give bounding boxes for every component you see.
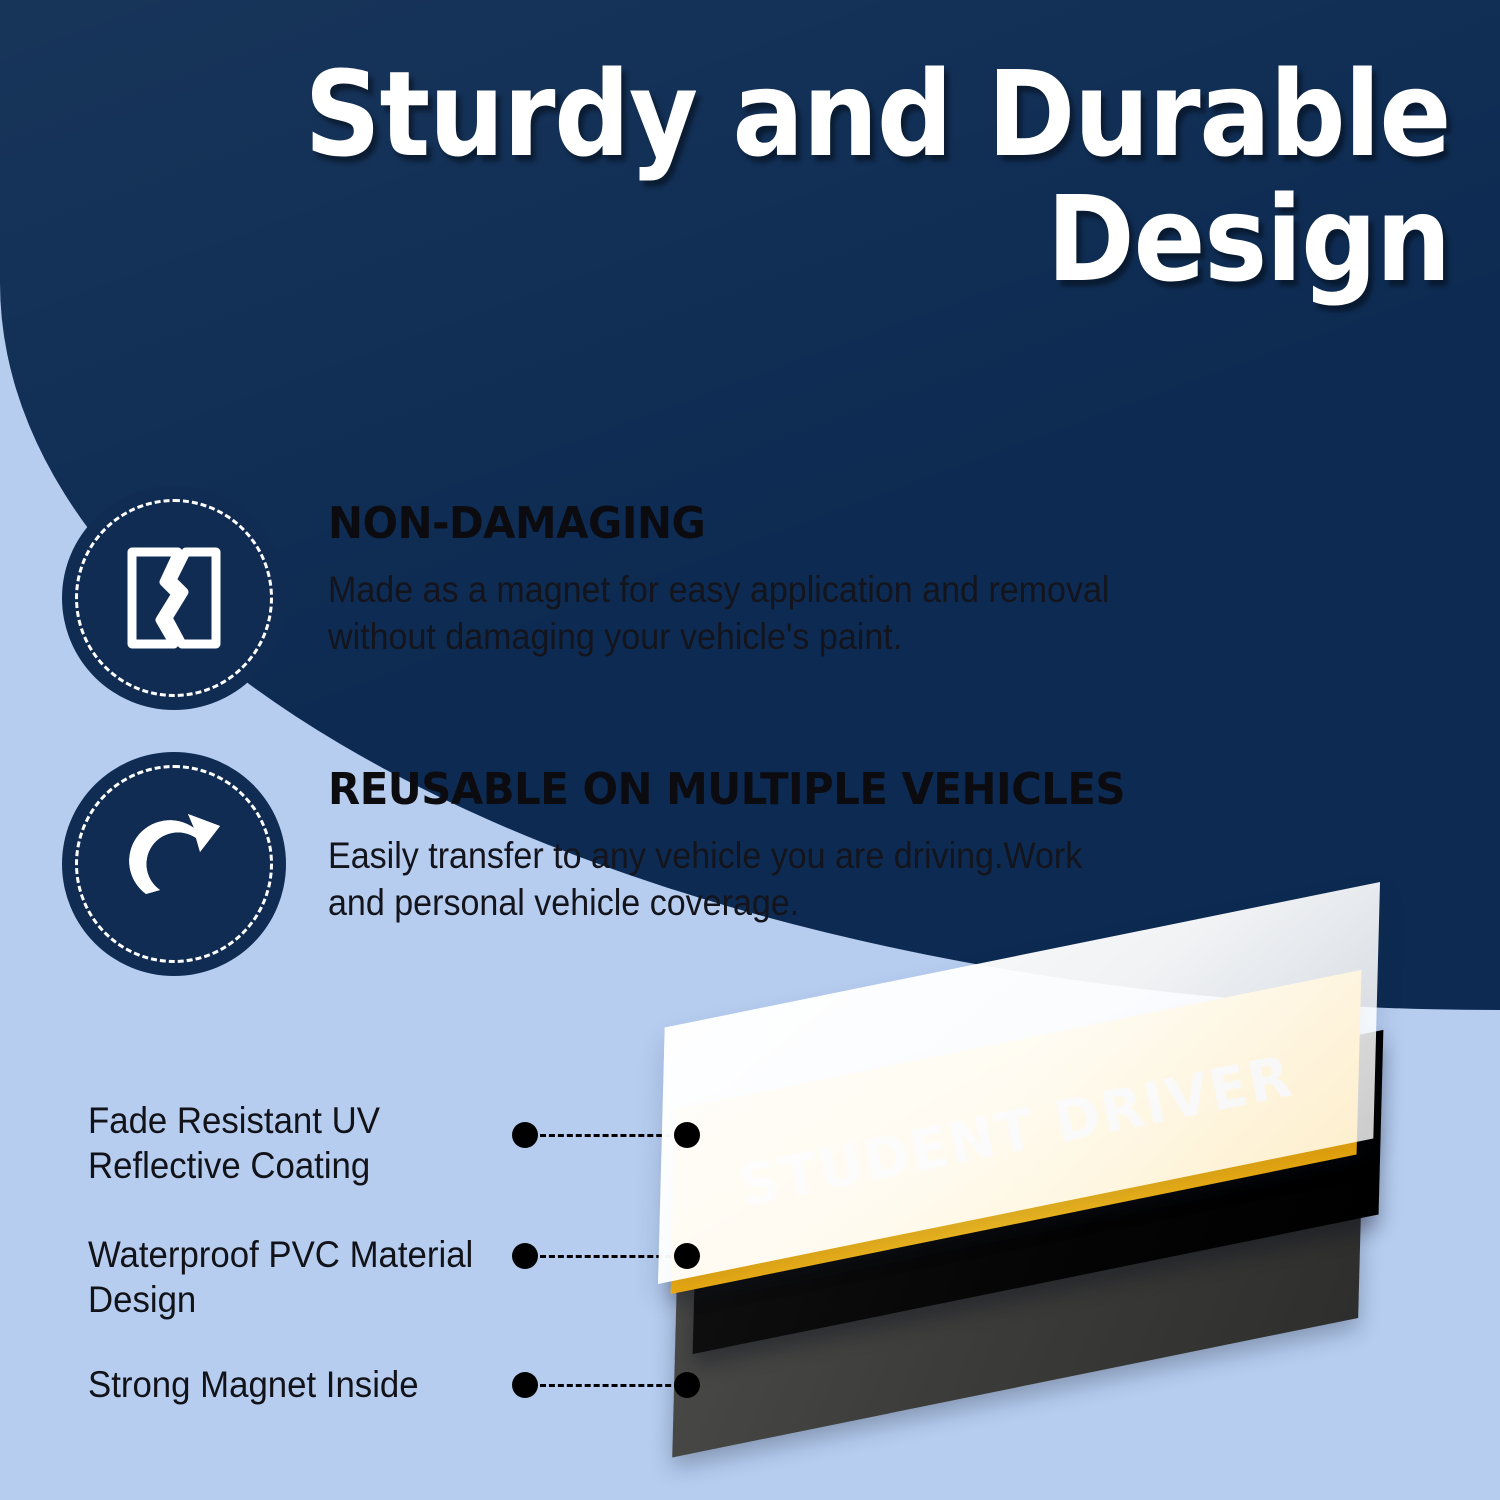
leader-dot-end-magnet [674,1372,700,1398]
feature-icon-badge [62,752,286,976]
feature-text-block: NON-DAMAGING Made as a magnet for easy a… [286,486,1182,661]
callout-label-magnet: Strong Magnet Inside [88,1362,502,1407]
infographic-canvas: Sturdy and Durable Design NON-DAMAGING M… [0,0,1500,1500]
feature-description: Made as a magnet for easy application an… [328,566,1114,661]
feature-description: Easily transfer to any vehicle you are d… [328,832,1138,927]
cracked-panel-icon [114,538,234,658]
leader-dot-end-uv-coating [674,1122,700,1148]
callout-label-uv-coating: Fade Resistant UV Reflective Coating [88,1098,492,1188]
recycle-arrows-icon [108,798,240,930]
leader-dot-end-pvc-material [674,1243,700,1269]
page-title-line-2: Design [199,177,1450,302]
leader-dot-start [512,1372,538,1398]
page-title-line-1: Sturdy and Durable [199,52,1450,177]
feature-heading: NON-DAMAGING [328,502,1139,546]
feature-non-damaging: NON-DAMAGING Made as a magnet for easy a… [62,486,1182,710]
feature-icon-badge [62,486,286,710]
callout-label-pvc-material: Waterproof PVC Material Design [88,1232,502,1322]
leader-dot-start [512,1243,538,1269]
feature-heading: REUSABLE ON MULTIPLE VEHICLES [328,768,1196,812]
feature-text-block: REUSABLE ON MULTIPLE VEHICLES Easily tra… [286,752,1242,927]
leader-dot-start [512,1122,538,1148]
product-layer-stack: PLEASE BE PATIENT STUDENT DRIVER [640,950,1500,1500]
feature-reusable: REUSABLE ON MULTIPLE VEHICLES Easily tra… [62,752,1242,976]
page-title: Sturdy and Durable Design [199,52,1450,302]
